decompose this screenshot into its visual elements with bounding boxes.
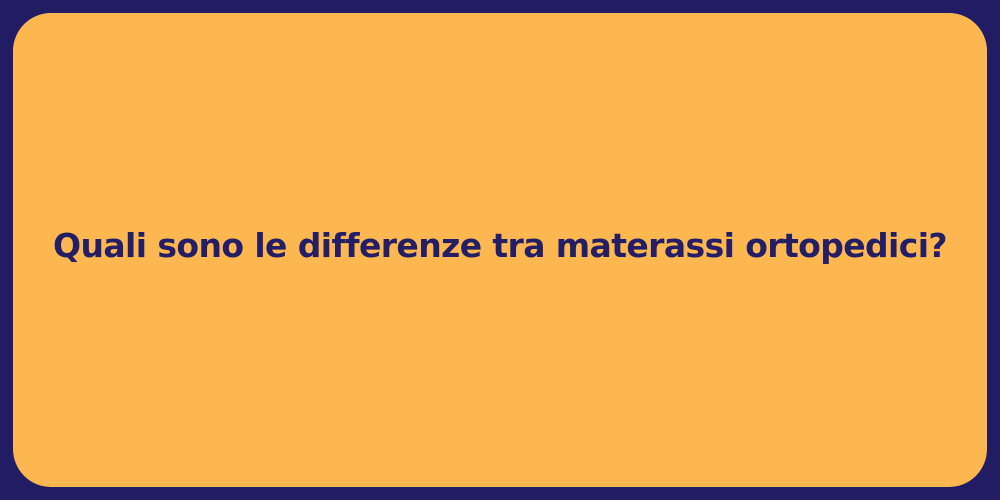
headline-container: Quali sono le differenze tra materassi o… <box>13 13 987 487</box>
content-card: Quali sono le differenze tra materassi o… <box>13 13 987 487</box>
page-background: Quali sono le differenze tra materassi o… <box>0 0 1000 500</box>
page-title: Quali sono le differenze tra materassi o… <box>53 227 947 265</box>
